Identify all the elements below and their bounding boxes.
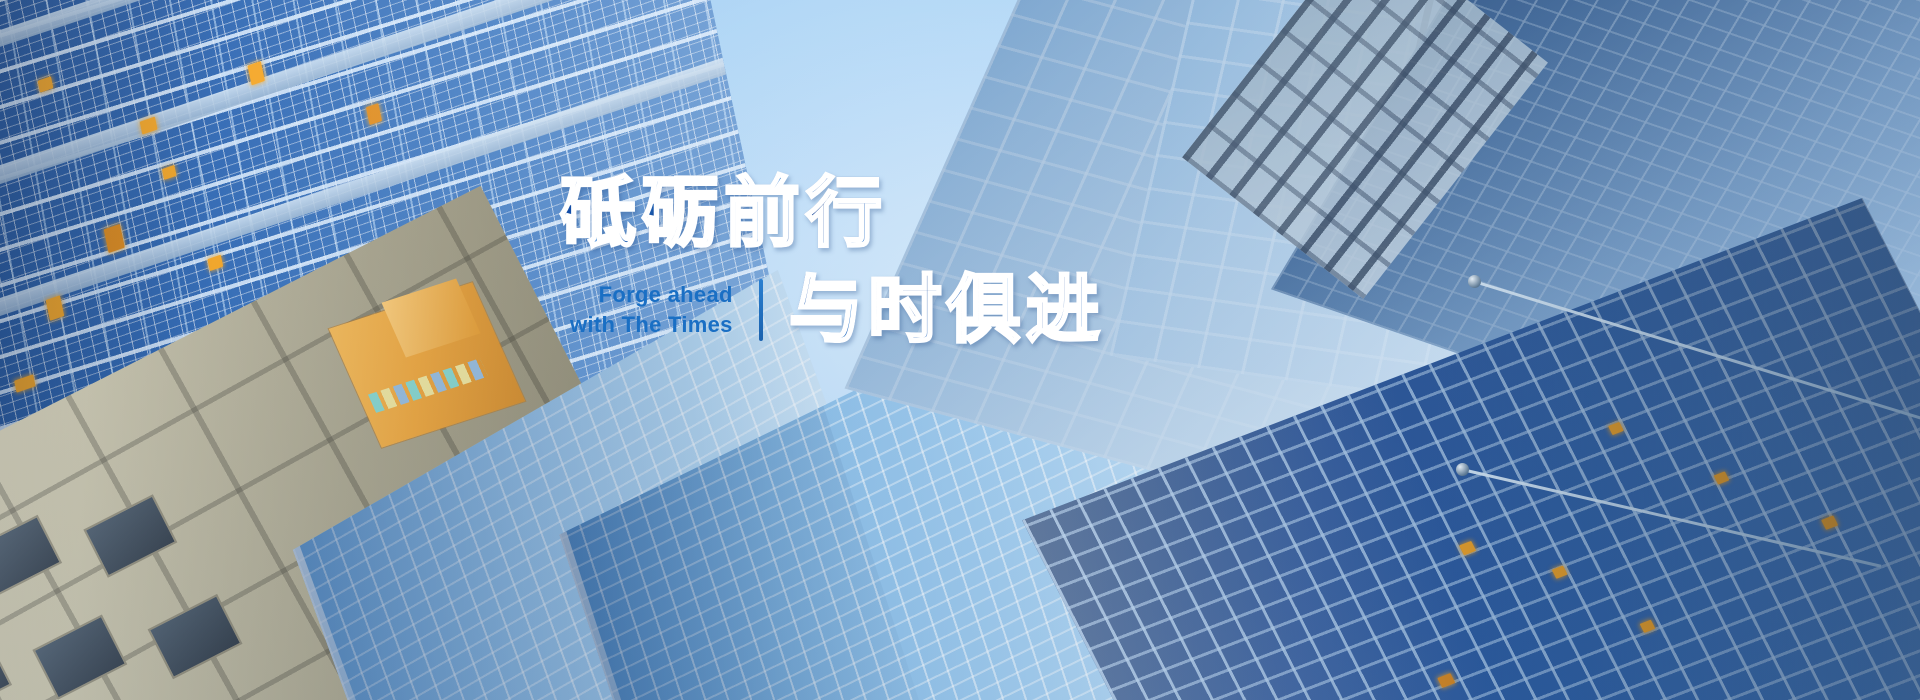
colored-window-tiles [368, 359, 488, 413]
banner-text-block: 砥砺前行 Forge ahead with The Times 与时俱进 [560, 175, 1200, 385]
hero-banner: 砥砺前行 Forge ahead with The Times 与时俱进 [0, 0, 1920, 700]
headline-secondary: 与时俱进 [789, 273, 1105, 347]
headline-primary: 砥砺前行 [560, 175, 888, 251]
antenna-ball-finial [1456, 463, 1469, 476]
english-subtitle-line1: Forge ahead [570, 280, 733, 310]
english-subtitle-line2: with The Times [570, 310, 733, 340]
subtitle-row: Forge ahead with The Times 与时俱进 [570, 273, 1105, 347]
antenna-ball-finial [1468, 275, 1481, 288]
english-subtitle: Forge ahead with The Times [570, 280, 733, 339]
vertical-divider [759, 279, 763, 341]
